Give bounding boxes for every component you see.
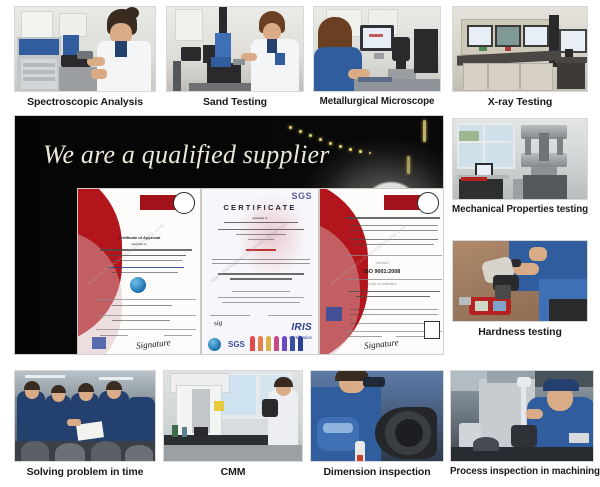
caption-metallurgical-microscope: Metallurgical Microscope	[313, 92, 441, 109]
collage-root: Spectroscopic Analysis Sand Testing	[0, 0, 600, 487]
tile-solving-problem-in-time: Solving problem in time	[14, 370, 156, 479]
caption-sand-testing: Sand Testing	[166, 92, 304, 109]
photo-metallurgical-microscope	[313, 6, 441, 92]
sgs-footer-mark: SGS	[228, 340, 245, 349]
tile-cmm: CMM	[163, 370, 303, 479]
photo-sand-testing	[166, 6, 304, 92]
photo-dimension-inspection	[310, 370, 444, 462]
caption-mechanical-properties-testing: Mechanical Properties testing	[452, 200, 588, 217]
tile-spectroscopic-analysis: Spectroscopic Analysis	[14, 6, 156, 109]
certificate-sgs-iris: SGS CERTIFICATE awarded to IRIS Certific…	[201, 188, 319, 355]
tile-sand-testing: Sand Testing	[166, 6, 304, 109]
ukas-mark	[424, 321, 440, 339]
tile-process-inspection-in-machining: Process inspection in machining	[450, 370, 594, 479]
caption-cmm: CMM	[163, 462, 303, 479]
photo-hardness-testing	[452, 240, 588, 322]
qualified-supplier-banner: We are a qualified supplier Certificate …	[14, 115, 444, 355]
tile-hardness-testing: Hardness testing	[452, 240, 588, 339]
photo-x-ray-testing	[452, 6, 588, 92]
tile-mechanical-properties-testing: Mechanical Properties testing	[452, 118, 588, 217]
certificates-strip: Certificate of Approval awarded to Signa…	[77, 188, 444, 355]
photo-solving-problem-in-time	[14, 370, 156, 462]
banner-headline: We are a qualified supplier	[43, 140, 330, 170]
photo-process-inspection-in-machining	[450, 370, 594, 462]
tile-dimension-inspection: Dimension inspection	[310, 370, 444, 479]
tile-metallurgical-microscope: Metallurgical Microscope	[313, 6, 441, 109]
caption-hardness-testing: Hardness testing	[452, 322, 588, 339]
caption-dimension-inspection: Dimension inspection	[310, 462, 444, 479]
photo-cmm	[163, 370, 303, 462]
photo-spectroscopic-analysis	[14, 6, 156, 92]
caption-process-inspection-in-machining: Process inspection in machining	[450, 462, 594, 479]
caption-solving-problem-in-time: Solving problem in time	[14, 462, 156, 479]
iris-mark: IRIS	[291, 322, 312, 333]
sgs-logo: SGS	[291, 191, 312, 201]
photo-mechanical-properties-testing	[452, 118, 588, 200]
caption-x-ray-testing: X-ray Testing	[452, 92, 588, 109]
certificate-bureau-veritas-approval: Certificate of Approval awarded to Signa…	[77, 188, 201, 355]
caption-spectroscopic-analysis: Spectroscopic Analysis	[14, 92, 156, 109]
tile-x-ray-testing: X-ray Testing	[452, 6, 588, 109]
certificate-bureau-veritas-iso9001: Standard ISO 9001:2008 Scope of certific…	[319, 188, 444, 355]
